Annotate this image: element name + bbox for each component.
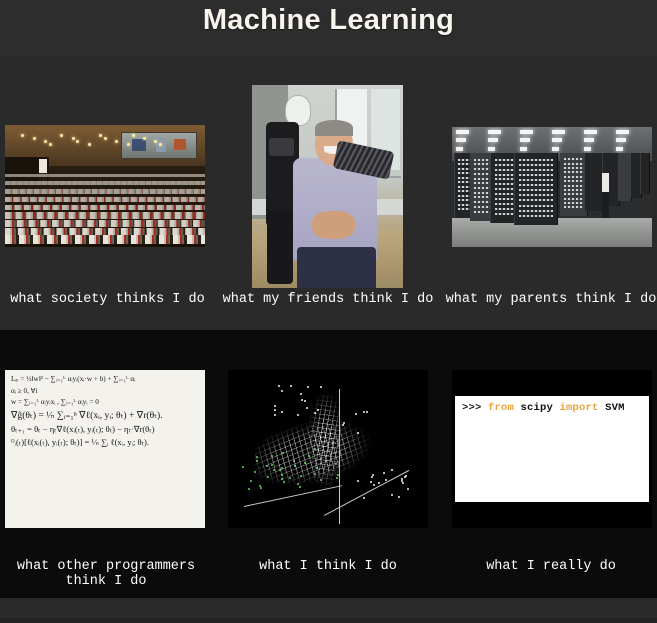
machine-row (5, 197, 205, 202)
rack-led-strip (564, 167, 585, 169)
panel-image-python-console: >>> from scipy import SVM (452, 370, 652, 528)
man-lap (297, 247, 376, 288)
machine-row (5, 205, 205, 211)
data-point (274, 405, 276, 407)
ceiling-light (616, 130, 629, 134)
python-console-window[interactable]: >>> from scipy import SVM (455, 396, 649, 502)
panel-image-friends (252, 85, 403, 288)
rack-led-strip (564, 163, 585, 165)
robot-joint (269, 138, 295, 156)
rack-led-strip (564, 158, 585, 160)
equation-line: θₜ₊₁ = θₜ − ηₜ∇ℓ(xᵢ(ₜ), yᵢ(ₜ); θₜ) − ηₜ·… (11, 425, 199, 434)
panel-image-equations: Lₚ = ½‖w‖² − ∑ᵢ₌₁ᴸ αᵢyᵢ(xᵢ·w + b) + ∑ᵢ₌₁… (5, 370, 205, 528)
data-point (398, 496, 400, 498)
keyword-from: from (488, 402, 514, 414)
ceiling-light (49, 143, 52, 146)
rack-led-strip (519, 179, 553, 181)
equation-sheet: Lₚ = ½‖w‖² − ∑ᵢ₌₁ᴸ αᵢyᵢ(xᵢ·w + b) + ∑ᵢ₌₁… (11, 376, 199, 522)
data-point (250, 480, 252, 482)
data-point (274, 409, 276, 411)
ceiling-light (520, 130, 533, 134)
robot-lower-arm (267, 211, 293, 284)
ceiling-light (21, 134, 24, 137)
ceiling-light (132, 134, 135, 137)
machine-row (5, 220, 205, 227)
rack-led-strip (519, 194, 553, 196)
rack-led-strip (564, 189, 585, 191)
hall-machine-rows (5, 174, 205, 247)
ceiling-light (488, 130, 501, 134)
rack-led-strip (564, 206, 585, 208)
panel-image-parents (452, 127, 652, 247)
data-point (242, 466, 244, 468)
equation-line: ∇ĝ(θₜ) = ¹⁄ₙ ∑ᵢ₌₁ⁿ ∇ℓ(xᵢ, yᵢ; θₜ) + ∇r(θ… (11, 411, 199, 421)
ceiling-light (33, 137, 36, 140)
rack-led-strip (564, 180, 585, 182)
ceiling-light (552, 138, 562, 142)
equation-line: αᵢ ≥ 0, ∀i (11, 388, 199, 396)
rack-led-strip (519, 189, 553, 191)
caption-other-programmers: what other programmers think I do (0, 559, 212, 589)
rack-led-strip (519, 215, 553, 217)
server-rack (514, 153, 558, 225)
ceiling-light (44, 140, 47, 143)
data-point (281, 390, 283, 392)
rack-led-strip (564, 202, 585, 204)
caption-i-really-do: what I really do (445, 559, 657, 574)
data-point (320, 386, 322, 388)
ceiling-light (520, 147, 527, 151)
ceiling-light (72, 137, 75, 140)
machine-row (5, 212, 205, 219)
ceiling-light (584, 130, 597, 134)
machine-row (5, 181, 205, 185)
equation-line: ᴼᵢ(ₜ)[ℓ(xᵢ(ₜ), yᵢ(ₜ); θₜ)] = ¹⁄ₙ ∑ᵢ ℓ(xᵢ… (11, 438, 199, 447)
ceiling-light (115, 140, 118, 143)
meme-image: Machine Learning what society thinks I d… (0, 0, 657, 623)
machine-row (5, 189, 205, 193)
machine-row (5, 174, 205, 177)
ceiling-light (520, 138, 530, 142)
caption-society: what society thinks I do (0, 292, 215, 307)
keyword-import: import (560, 402, 599, 414)
hall-ceiling-lights (17, 132, 165, 149)
svm-saddle-ridge (282, 395, 366, 509)
data-point (401, 478, 403, 480)
caption-i-think: what I think I do (222, 559, 434, 574)
rack-led-strip (519, 174, 553, 176)
ceiling-light (99, 134, 102, 137)
rack-led-strip (564, 176, 585, 178)
panel-image-svm-plot (228, 370, 428, 528)
ceiling-light (488, 138, 498, 142)
caption-friends: what my friends think I do (222, 292, 434, 307)
console-prompt: >>> (462, 402, 488, 414)
rack-led-strip (564, 193, 585, 195)
rack-led-strip (519, 164, 553, 166)
panel-image-society (5, 125, 205, 247)
rack-led-strip (519, 199, 553, 201)
data-point (307, 386, 309, 388)
screen-panel-orange (174, 139, 186, 150)
server-rack (640, 153, 650, 194)
rack-led-strip (564, 171, 585, 173)
ceiling-light (456, 130, 469, 134)
rack-led-strip (519, 159, 553, 161)
rack-led-strip (564, 185, 585, 187)
man-clasped-hands (312, 211, 354, 239)
ceiling-light (127, 143, 130, 146)
rack-led-strip (564, 198, 585, 200)
imported-symbol: SVM (599, 402, 625, 414)
ceiling-light (143, 137, 146, 140)
module-name: scipy (514, 402, 560, 414)
equation-line: w = ∑ᵢ₌₁ᴸ αᵢyᵢxᵢ , ∑ᵢ₌₁ᴸ αᵢyᵢ = 0 (11, 399, 199, 407)
data-point (402, 482, 404, 484)
ceiling-light (104, 137, 107, 140)
ceiling-light (159, 143, 162, 146)
datacenter-technician (602, 173, 609, 219)
bottom-edge-strip (0, 618, 657, 623)
rack-led-strip (519, 184, 553, 186)
ceiling-light (584, 138, 594, 142)
data-point (248, 488, 250, 490)
rack-led-strip (519, 210, 553, 212)
ceiling-light (552, 147, 559, 151)
console-code-line: >>> from scipy import SVM (462, 402, 625, 414)
ceiling-light (616, 138, 626, 142)
data-point (407, 488, 409, 490)
machine-row (5, 235, 205, 244)
equation-line: Lₚ = ½‖w‖² − ∑ᵢ₌₁ᴸ αᵢyᵢ(xᵢ·w + b) + ∑ᵢ₌₁… (11, 376, 199, 384)
rack-led-strip (519, 169, 553, 171)
ceiling-light (154, 140, 157, 143)
data-point (290, 385, 292, 387)
ceiling-light (76, 140, 79, 143)
ceiling-light (488, 147, 495, 151)
page-title: Machine Learning (0, 4, 657, 37)
man-hair (315, 120, 353, 136)
ceiling-light (88, 143, 91, 146)
rack-led-strip (519, 205, 553, 207)
ceiling-light (456, 138, 466, 142)
caption-parents: what my parents think I do (445, 292, 657, 307)
plot-axis (339, 389, 340, 524)
ceiling-light (60, 134, 63, 137)
data-point (278, 385, 280, 387)
svm-plot-area (232, 374, 424, 524)
ceiling-light (616, 147, 623, 151)
ceiling-light (584, 147, 591, 151)
ceiling-light (456, 147, 463, 151)
ceiling-light (552, 130, 565, 134)
